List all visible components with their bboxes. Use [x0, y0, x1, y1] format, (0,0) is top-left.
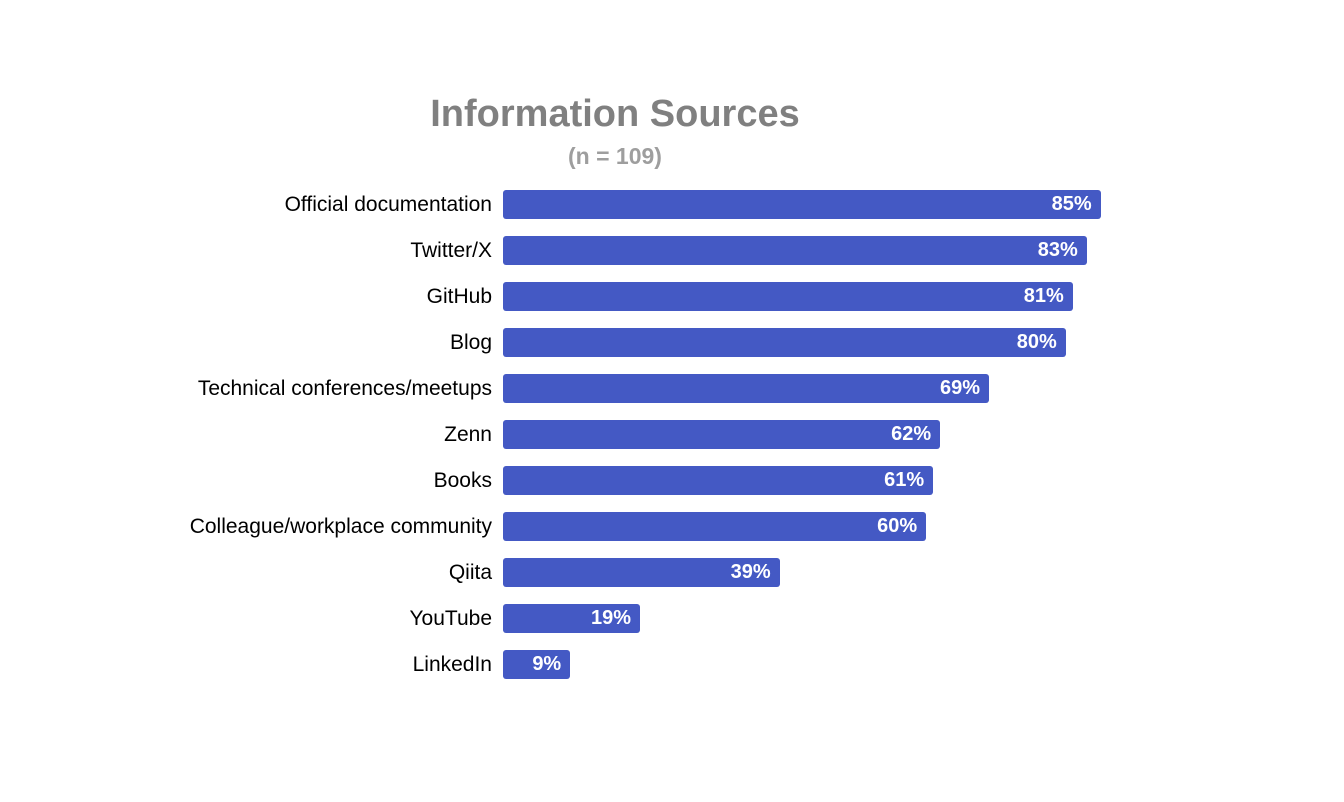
bar-row: Official documentation85% — [0, 190, 1344, 236]
bar-row: Twitter/X83% — [0, 236, 1344, 282]
bar-value-label: 61% — [884, 466, 924, 495]
bar: 61% — [503, 466, 933, 495]
bar-track: 81% — [503, 282, 1073, 311]
bar: 80% — [503, 328, 1066, 357]
bar-row: LinkedIn9% — [0, 650, 1344, 696]
category-label: LinkedIn — [413, 650, 492, 679]
bar-track: 69% — [503, 374, 989, 403]
bar-value-label: 39% — [731, 558, 771, 587]
chart-subtitle: (n = 109) — [0, 141, 1230, 171]
category-label: Technical conferences/meetups — [198, 374, 492, 403]
bar-track: 39% — [503, 558, 780, 587]
bar-value-label: 60% — [877, 512, 917, 541]
bar-value-label: 9% — [532, 650, 561, 679]
bar-row: Zenn62% — [0, 420, 1344, 466]
category-label: Blog — [450, 328, 492, 357]
bar: 19% — [503, 604, 640, 633]
bar-value-label: 62% — [891, 420, 931, 449]
bar: 69% — [503, 374, 989, 403]
bar-row: GitHub81% — [0, 282, 1344, 328]
bar-track: 61% — [503, 466, 933, 495]
category-label: Colleague/workplace community — [190, 512, 492, 541]
bar-row: Books61% — [0, 466, 1344, 512]
bar-row: Technical conferences/meetups69% — [0, 374, 1344, 420]
bar-track: 19% — [503, 604, 640, 633]
category-label: Books — [434, 466, 492, 495]
bar-track: 60% — [503, 512, 926, 541]
category-label: Twitter/X — [410, 236, 492, 265]
bar-row: Qiita39% — [0, 558, 1344, 604]
bar: 9% — [503, 650, 570, 679]
bar-track: 9% — [503, 650, 570, 679]
bar-value-label: 80% — [1017, 328, 1057, 357]
chart-title: Information Sources — [0, 90, 1230, 138]
bar: 60% — [503, 512, 926, 541]
plot-area: Official documentation85%Twitter/X83%Git… — [0, 190, 1344, 696]
bar-track: 83% — [503, 236, 1087, 265]
bar: 39% — [503, 558, 780, 587]
category-label: Official documentation — [285, 190, 492, 219]
bar: 81% — [503, 282, 1073, 311]
bar-row: YouTube19% — [0, 604, 1344, 650]
bar-value-label: 83% — [1038, 236, 1078, 265]
bar-track: 85% — [503, 190, 1101, 219]
bar-track: 80% — [503, 328, 1066, 357]
category-label: Qiita — [449, 558, 492, 587]
bar-row: Blog80% — [0, 328, 1344, 374]
bar-value-label: 19% — [591, 604, 631, 633]
chart-header: Information Sources (n = 109) — [0, 90, 1230, 171]
bar-chart: Information Sources (n = 109) Official d… — [0, 0, 1344, 802]
bar-track: 62% — [503, 420, 940, 449]
bar: 83% — [503, 236, 1087, 265]
bar: 85% — [503, 190, 1101, 219]
category-label: YouTube — [409, 604, 492, 633]
category-label: Zenn — [444, 420, 492, 449]
bar-value-label: 69% — [940, 374, 980, 403]
bar-row: Colleague/workplace community60% — [0, 512, 1344, 558]
bar-value-label: 81% — [1024, 282, 1064, 311]
bar-value-label: 85% — [1052, 190, 1092, 219]
bar: 62% — [503, 420, 940, 449]
category-label: GitHub — [427, 282, 492, 311]
